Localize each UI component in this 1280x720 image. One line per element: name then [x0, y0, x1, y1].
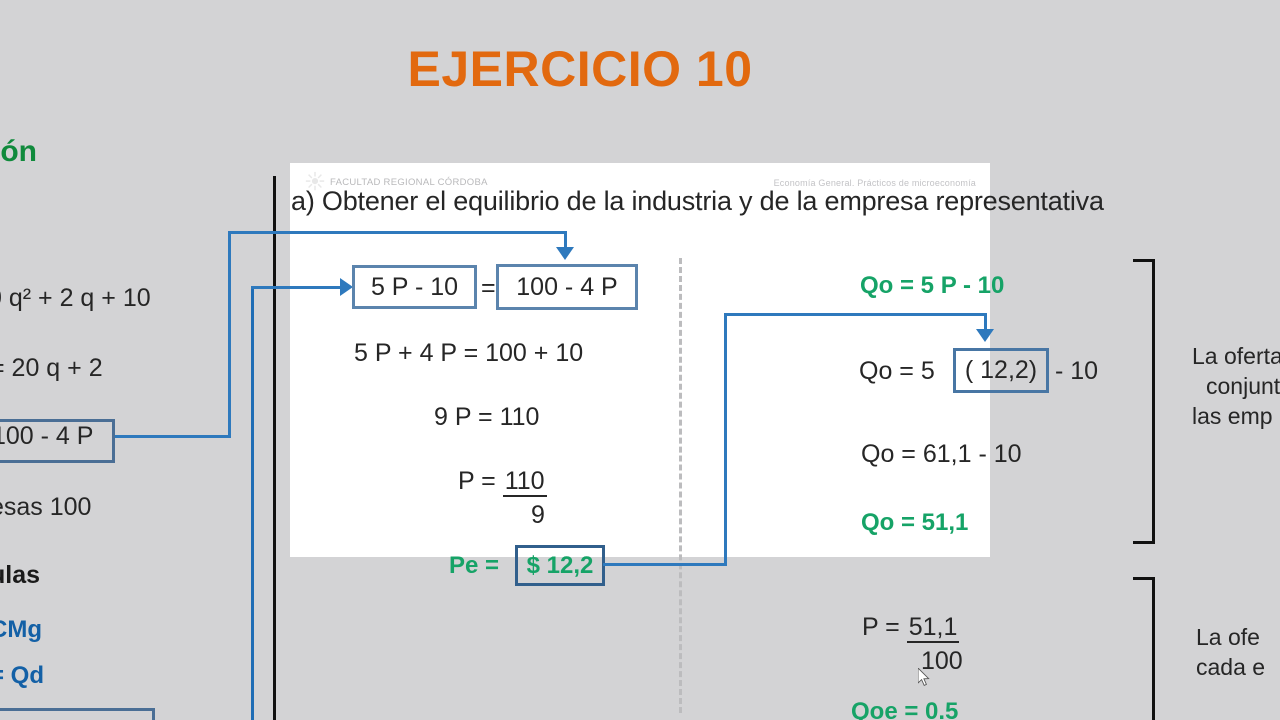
equilibrium-price-box: $ 12,2	[515, 545, 605, 586]
connector-pe-arrow	[976, 329, 994, 342]
industry-step-3-denominator-wrap: 9	[531, 501, 545, 530]
left-cost-function-text: 0 q² + 2 q + 10	[0, 284, 151, 312]
connector-pe-v1	[724, 313, 727, 565]
note-firm: La ofe cada e	[1196, 622, 1265, 682]
firm-step-numerator: 51,1	[907, 613, 960, 643]
left-formulas-label: ulas	[0, 561, 40, 590]
industry-step-3-numerator: 110	[503, 467, 547, 497]
firm-quantity-result: Qoe = 0.5	[851, 698, 958, 720]
demand-equation-text: 100 - 4 P	[516, 273, 617, 302]
left-section-heading: ión	[0, 135, 37, 169]
supply-equation-box: 5 P - 10	[352, 265, 477, 309]
quantity-step-1: Qo = 61,1 - 10	[861, 440, 1022, 469]
note-firm-line-2: cada e	[1196, 652, 1265, 682]
firm-step-lhs: P =	[862, 613, 900, 641]
quantity-substitution-lhs: Qo = 5	[859, 357, 935, 386]
industry-step-2: 9 P = 110	[434, 403, 539, 432]
price-substitution-value: ( 12,2)	[965, 356, 1037, 385]
price-substitution-box: ( 12,2)	[953, 348, 1049, 393]
connector-pe-h2	[724, 313, 987, 316]
equilibrium-price-label: Pe =	[449, 552, 499, 580]
equals-sign: =	[481, 274, 496, 303]
left-demand-text: 100 - 4 P	[0, 422, 93, 451]
industry-step-3-lhs: P =	[458, 467, 496, 495]
note-industry-line-2: conjunta	[1192, 371, 1280, 401]
industry-step-1: 5 P + 4 P = 100 + 10	[354, 339, 583, 368]
vertical-rule-blue	[251, 286, 254, 720]
note-firm-line-1: La ofe	[1196, 624, 1260, 650]
slide-canvas: EJERCICIO 10 FACULTAD REGIONAL CÓRDOBA E…	[0, 0, 1280, 720]
note-industry-line-1: La oferta	[1192, 343, 1280, 369]
left-formula-cmg: CMg	[0, 616, 42, 644]
quantity-result: Qo = 51,1	[861, 509, 968, 537]
industry-step-3-denominator: 9	[531, 501, 545, 529]
bracket-firm	[1133, 577, 1155, 720]
demand-equation-box: 100 - 4 P	[496, 264, 638, 310]
page-title: EJERCICIO 10	[0, 40, 1160, 98]
connector-supply-h1	[251, 286, 348, 289]
supply-formula: Qo = 5 P - 10	[860, 272, 1004, 300]
note-industry-line-3: las emp	[1192, 401, 1280, 431]
connector-demand-h2	[228, 231, 566, 234]
firm-step: P = 51,1	[862, 613, 959, 642]
industry-step-3: P = 110	[458, 467, 547, 496]
left-cost-function: 0 q² + 2 q + 10	[0, 284, 151, 313]
mouse-cursor	[918, 668, 930, 687]
left-firms-count: esas 100	[0, 493, 91, 522]
bracket-industry	[1133, 259, 1155, 544]
note-industry: La oferta conjunta las emp	[1192, 341, 1280, 431]
exercise-heading: a) Obtener el equilibrio de la industria…	[291, 186, 1104, 217]
quantity-substitution-rhs: - 10	[1055, 357, 1098, 386]
connector-demand-arrow	[556, 247, 574, 260]
column-divider	[679, 258, 682, 713]
left-formula-qd: = Qd	[0, 662, 44, 690]
connector-demand-v1	[228, 231, 231, 438]
left-bottom-box	[0, 708, 155, 720]
left-marginal-cost: = 20 q + 2	[0, 354, 103, 383]
vertical-rule-black	[273, 176, 276, 720]
equilibrium-price-value: $ 12,2	[527, 552, 594, 580]
supply-equation-text: 5 P - 10	[371, 273, 458, 302]
connector-pe-h1	[603, 563, 727, 566]
connector-demand-h1	[114, 435, 231, 438]
